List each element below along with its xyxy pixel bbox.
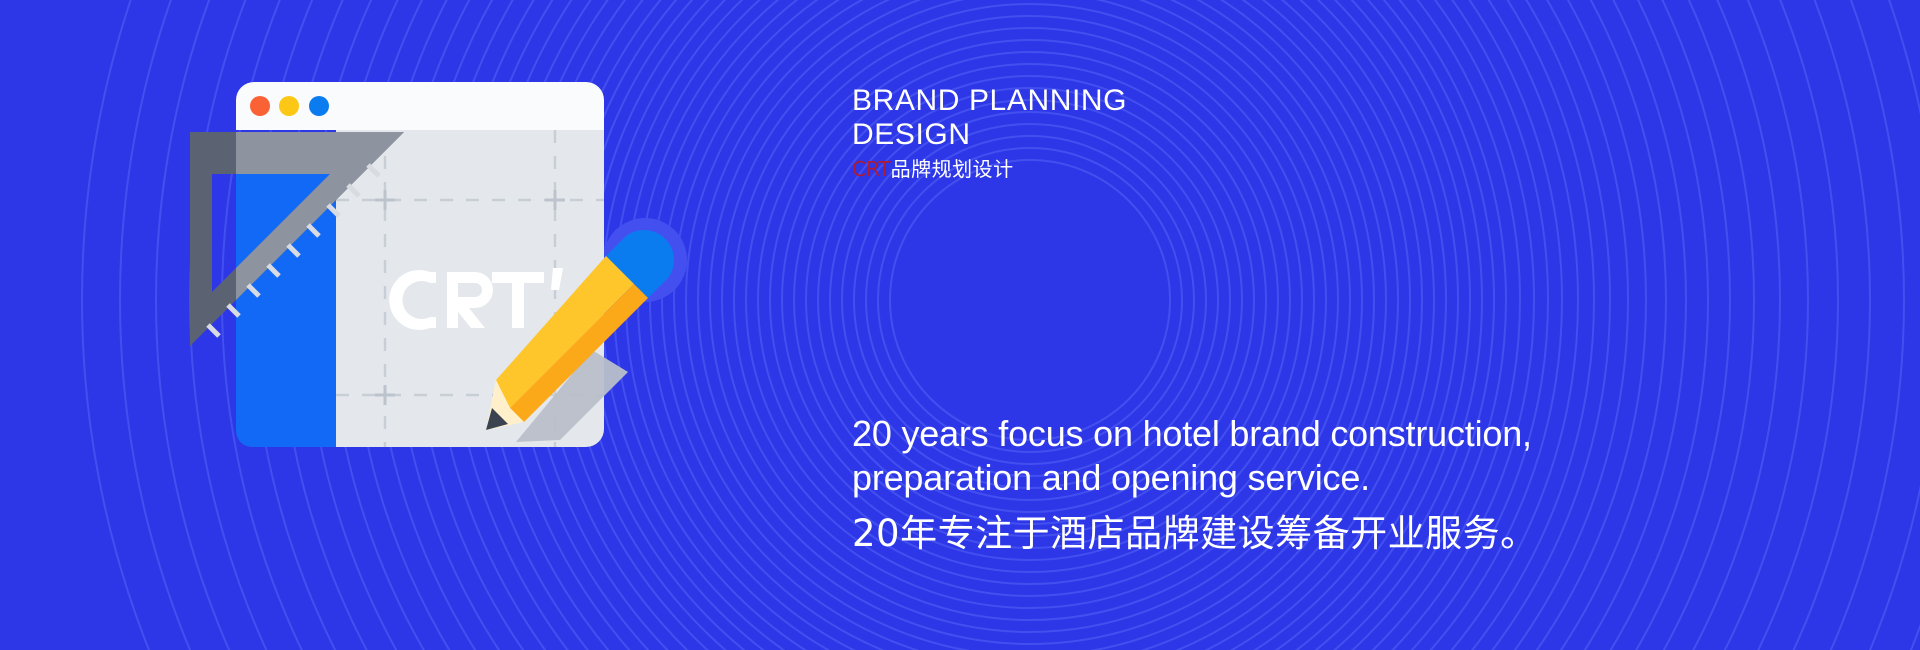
maximize-dot-icon[interactable] (309, 96, 329, 116)
brand-banner: BRAND PLANNING DESIGN CRT品牌规划设计 20 years… (0, 0, 1920, 650)
headline-chinese-row: CRT品牌规划设计 (852, 157, 1472, 181)
headline-block: BRAND PLANNING DESIGN CRT品牌规划设计 (852, 84, 1472, 181)
text-column: BRAND PLANNING DESIGN CRT品牌规划设计 20 years… (852, 0, 1872, 650)
tagline-english: 20 years focus on hotel brand constructi… (852, 412, 1752, 500)
minimize-dot-icon[interactable] (279, 96, 299, 116)
headline-chinese: 品牌规划设计 (891, 157, 1014, 181)
close-dot-icon[interactable] (250, 96, 270, 116)
tagline-chinese: 20年专注于酒店品牌建设筹备开业服务。 (852, 512, 1752, 556)
illustration-svg (0, 0, 860, 650)
headline-english: BRAND PLANNING DESIGN (852, 84, 1472, 152)
headline-brand-accent: CRT (852, 157, 891, 181)
tagline-block: 20 years focus on hotel brand constructi… (852, 412, 1752, 556)
hero-illustration (0, 0, 860, 650)
